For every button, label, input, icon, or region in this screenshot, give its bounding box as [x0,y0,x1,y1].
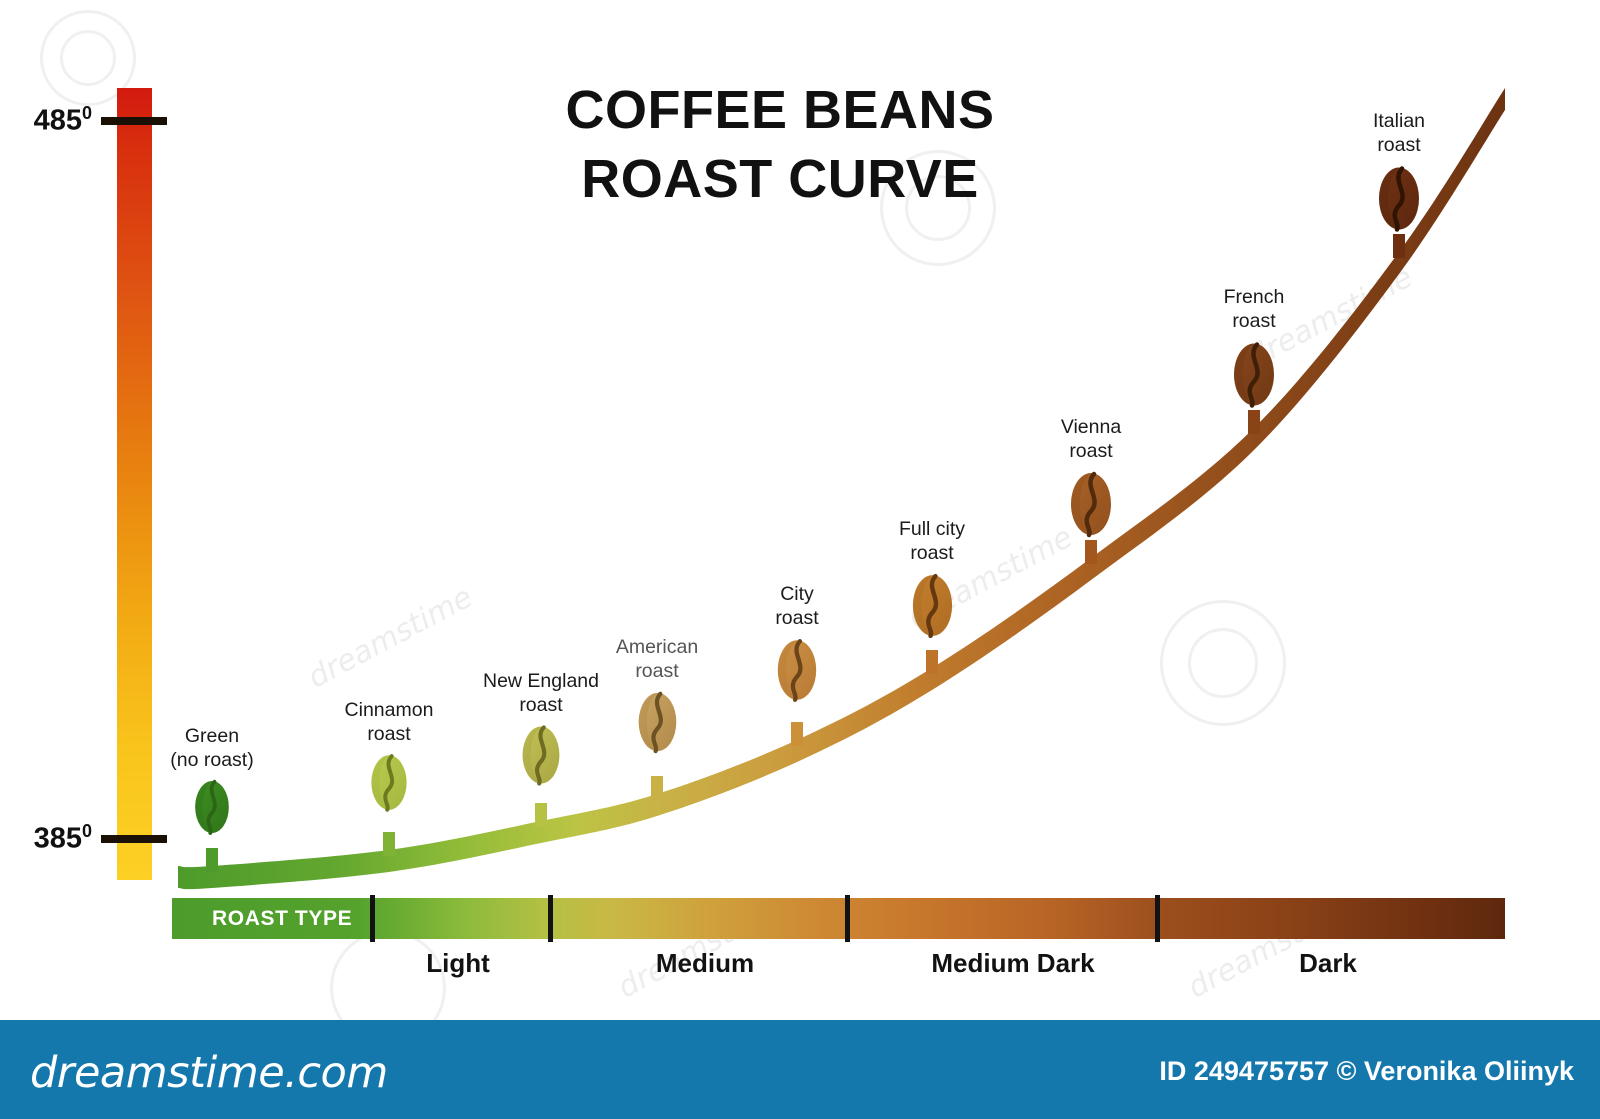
roast-divider [1155,895,1160,942]
roast-type-bar: ROAST TYPE [172,898,1505,939]
dreamstime-logo[interactable]: dreamstime.com [30,1048,388,1098]
temperature-value-upper: 485 [34,105,82,137]
footer-bar: dreamstime.com ID 249475757 © Veronika O… [0,1020,1600,1119]
coffee-bean-icon [1229,338,1279,411]
curve-stem [535,803,547,827]
roast-divider [548,895,553,942]
coffee-bean-icon [773,635,821,705]
curve-stem [383,832,395,856]
coffee-bean-icon [191,777,233,837]
coffee-bean-icon [908,570,957,641]
page-title: COFFEE BEANS ROAST CURVE [420,76,1140,214]
roast-category-medium: Medium [555,948,855,979]
bean-marker[interactable]: Green (no roast) [137,725,287,837]
coffee-bean-icon [1374,162,1424,235]
bean-label: American roast [582,636,732,684]
bean-label: Vienna roast [1016,416,1166,464]
curve-stem [1085,540,1097,564]
coffee-bean-icon [634,688,681,756]
watermark-text: dreamstime [302,580,478,696]
degree-symbol-icon: 0 [82,821,92,841]
coffee-bean-icon [367,751,411,814]
bean-marker[interactable]: Full city roast [857,518,1007,641]
bean-label: City roast [722,583,872,631]
bean-label: French roast [1179,286,1329,334]
temperature-tick-upper [101,117,167,125]
bean-marker[interactable]: French roast [1179,286,1329,411]
bean-label: Green (no roast) [137,725,287,773]
bean-marker[interactable]: Cinnamon roast [314,699,464,814]
coffee-bean-icon [1066,468,1116,540]
watermark-ring [1160,600,1286,726]
temperature-label-lower: 3850 [0,821,92,856]
watermark-ring [1188,628,1258,698]
bean-marker[interactable]: Italian roast [1324,110,1474,235]
coffee-bean-icon [518,722,564,788]
bean-marker[interactable]: American roast [582,636,732,756]
roast-type-bar-title: ROAST TYPE [212,898,352,939]
infographic-canvas: dreamstime dreamstime dreamstime dreamst… [0,0,1600,1119]
roast-divider [845,895,850,942]
bean-marker[interactable]: City roast [722,583,872,705]
temperature-value-lower: 385 [34,823,82,855]
curve-stem [1248,410,1260,434]
temperature-label-upper: 4850 [0,103,92,138]
curve-stem [926,650,938,674]
bean-label: Italian roast [1324,110,1474,158]
roast-category-medium-dark: Medium Dark [863,948,1163,979]
title-line-1: COFFEE BEANS [420,76,1140,145]
curve-stem [791,722,803,746]
curve-stem [206,848,218,872]
title-line-2: ROAST CURVE [420,145,1140,214]
roast-category-dark: Dark [1178,948,1478,979]
bean-label: Full city roast [857,518,1007,566]
bean-marker[interactable]: Vienna roast [1016,416,1166,540]
image-credit: ID 249475757 © Veronika Oliinyk [1159,1056,1574,1087]
curve-stem [1393,234,1405,258]
degree-symbol-icon: 0 [82,103,92,123]
watermark-ring [60,30,116,86]
curve-stem [651,776,663,800]
roast-divider [370,895,375,942]
bean-label: Cinnamon roast [314,699,464,747]
